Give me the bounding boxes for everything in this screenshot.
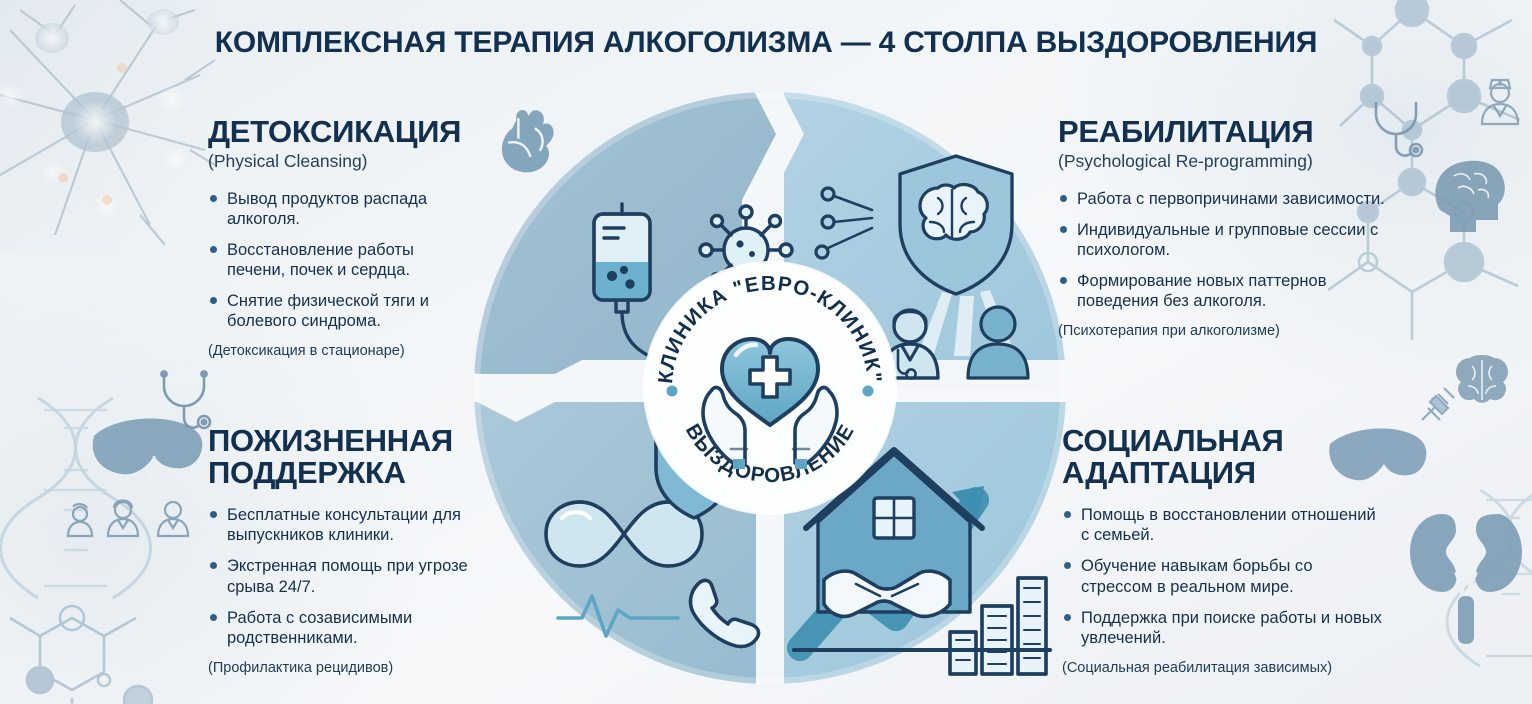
list-item: Индивидуальные и групповые сессии с псих… — [1058, 220, 1388, 260]
bullet-text: Формирование новых паттернов поведения б… — [1077, 272, 1327, 310]
pillar-heading-detox: ДЕТОКСИКАЦИЯ — [208, 116, 476, 148]
bullet-dot — [210, 297, 217, 304]
doctors-group-icon — [68, 501, 188, 537]
stethoscope-icon — [161, 371, 210, 428]
bullet-text: Работа с созависимыми родственниками. — [227, 609, 412, 647]
pillar-bullet-list-support: Бесплатные консультации для выпускников … — [208, 505, 508, 648]
dna-helix-icon — [1447, 490, 1532, 666]
bullet-dot — [1060, 226, 1067, 233]
pillar-note-social: (Социальная реабилитация зависимых) — [1062, 660, 1382, 676]
list-item: Снятие физической тяги и болевого синдро… — [208, 291, 476, 331]
bullet-text: Снятие физической тяги и болевого синдро… — [227, 292, 429, 330]
list-item: Формирование новых паттернов поведения б… — [1058, 271, 1388, 311]
list-item: Поддержка при поиске работы и новых увле… — [1062, 608, 1382, 648]
bullet-dot — [1060, 277, 1067, 284]
nurse-icon — [1482, 80, 1518, 124]
bullet-dot — [210, 511, 217, 518]
heading-line-2: ПОДДЕРЖКА — [208, 455, 406, 490]
bullet-dot — [1064, 511, 1071, 518]
pillar-note-rehab: (Психотерапия при алкоголизме) — [1058, 323, 1388, 339]
list-item: Работа с первопричинами зависимости. — [1058, 189, 1388, 209]
bullet-text: Экстренная помощь при угрозе срыва 24/7. — [227, 557, 468, 595]
pillar-bullet-list-social: Помощь в восстановлении отношений с семь… — [1062, 505, 1382, 648]
bullet-dot — [210, 562, 217, 569]
pillar-note-support: (Профилактика рецидивов) — [208, 660, 508, 676]
bullet-text: Бесплатные консультации для выпускников … — [227, 506, 461, 544]
bullet-text: Восстановление работы печени, почек и се… — [227, 241, 414, 279]
list-item: Помощь в восстановлении отношений с семь… — [1062, 505, 1382, 545]
badge-dot-left — [667, 386, 678, 397]
bullet-dot — [210, 614, 217, 621]
pillar-bullet-list-detox: Вывод продуктов распада алкоголя. Восста… — [208, 189, 476, 332]
bullet-dot — [1064, 614, 1071, 621]
bullet-text: Работа с первопричинами зависимости. — [1077, 190, 1385, 208]
list-item: Восстановление работы печени, почек и се… — [208, 240, 476, 280]
list-item: Экстренная помощь при угрозе срыва 24/7. — [208, 556, 508, 596]
list-item: Обучение навыкам борьбы со стрессом в ре… — [1062, 556, 1382, 596]
bullet-text: Поддержка при поиске работы и новых увле… — [1081, 609, 1382, 647]
bullet-text: Обучение навыкам борьбы со стрессом в ре… — [1081, 557, 1313, 595]
pillar-block-social: СОЦИАЛЬНАЯ АДАПТАЦИЯ Помощь в восстановл… — [1062, 425, 1382, 676]
pillar-block-support: ПОЖИЗНЕННАЯ ПОДДЕРЖКА Бесплатные консуль… — [208, 425, 508, 676]
heading-line-2: АДАПТАЦИЯ — [1062, 455, 1256, 490]
liver-icon — [93, 418, 203, 486]
bullet-dot — [210, 246, 217, 253]
heading-line-1: ПОЖИЗНЕННАЯ — [208, 423, 453, 458]
pillar-heading-support: ПОЖИЗНЕННАЯ ПОДДЕРЖКА — [208, 425, 508, 488]
bullet-dot — [210, 195, 217, 202]
pillar-subtitle-detox: (Physical Cleansing) — [208, 151, 476, 172]
center-emblem: КЛИНИКА "ЕВРО-КЛИНИК" ВЫЗДОРОВЛЕНИЕ — [645, 263, 895, 513]
pillar-note-detox: (Детоксикация в стационаре) — [208, 343, 476, 359]
molecule-structure-icon — [10, 606, 152, 704]
badge-dot-right — [863, 386, 874, 397]
bullet-text: Индивидуальные и групповые сессии с псих… — [1077, 221, 1378, 259]
heading-line-1: СОЦИАЛЬНАЯ — [1062, 423, 1284, 458]
syringe-icon — [1422, 388, 1454, 420]
pillar-subtitle-rehab: (Psychological Re-programming) — [1058, 151, 1388, 172]
pillar-block-rehab: РЕАБИЛИТАЦИЯ (Psychological Re-programmi… — [1058, 116, 1388, 339]
page-title: КОМПЛЕКСНАЯ ТЕРАПИЯ АЛКОГОЛИЗМА — 4 СТОЛ… — [0, 26, 1532, 60]
pillar-heading-social: СОЦИАЛЬНАЯ АДАПТАЦИЯ — [1062, 425, 1382, 488]
brain-head-icon — [1435, 161, 1504, 232]
bullet-text: Помощь в восстановлении отношений с семь… — [1081, 506, 1376, 544]
kidneys-icon — [1410, 514, 1522, 644]
pillar-bullet-list-rehab: Работа с первопричинами зависимости. Инд… — [1058, 189, 1388, 312]
bullet-text: Вывод продуктов распада алкоголя. — [227, 190, 427, 228]
pillar-heading-rehab: РЕАБИЛИТАЦИЯ — [1058, 116, 1388, 148]
center-emblem-badge[interactable]: КЛИНИКА "ЕВРО-КЛИНИК" ВЫЗДОРОВЛЕНИЕ — [645, 263, 895, 513]
dna-helix-icon — [1, 398, 151, 598]
list-item: Бесплатные консультации для выпускников … — [208, 505, 508, 545]
bullet-dot — [1060, 195, 1067, 202]
list-item: Вывод продуктов распада алкоголя. — [208, 189, 476, 229]
bullet-dot — [1064, 562, 1071, 569]
list-item: Работа с созависимыми родственниками. — [208, 608, 508, 648]
pillar-block-detox: ДЕТОКСИКАЦИЯ (Physical Cleansing) Вывод … — [208, 116, 476, 359]
infographic-canvas: КОМПЛЕКСНАЯ ТЕРАПИЯ АЛКОГОЛИЗМА — 4 СТОЛ… — [0, 0, 1532, 704]
brain-icon — [1456, 355, 1508, 403]
